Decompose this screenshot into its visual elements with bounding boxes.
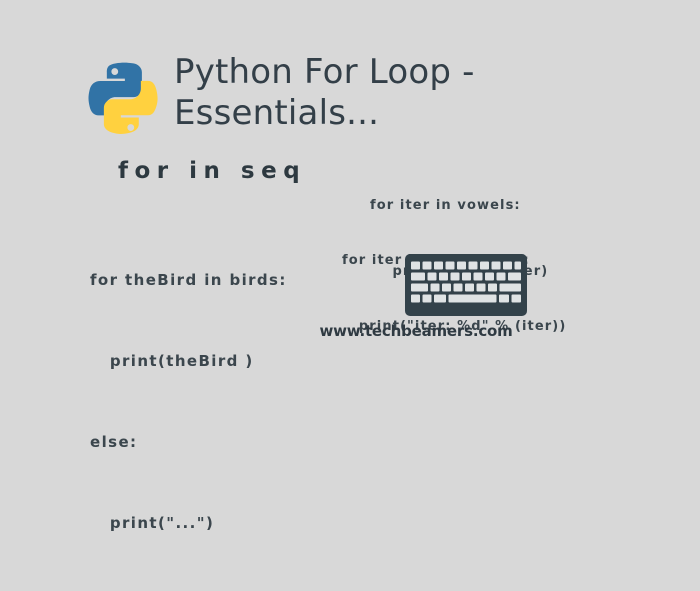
code-line: print("..."): [90, 510, 287, 537]
code-block-left: for theBird in birds: print(theBird ) el…: [90, 213, 287, 591]
page-title: Python For Loop - Essentials...: [174, 52, 594, 134]
website-url-text: www.techbeamers.com: [319, 322, 512, 340]
keyboard-icon: [405, 254, 527, 316]
code-line: else:: [90, 429, 287, 456]
python-logo: [88, 62, 162, 138]
website-url: www.techbeamers.com: [0, 322, 700, 340]
subtitle-for-in-seq: for in seq: [118, 158, 306, 184]
python-logo-svg: [88, 62, 162, 138]
keyboard-icon-svg: [405, 254, 527, 316]
code-line: for theBird in birds:: [90, 267, 287, 294]
page-title-line-1: Python For Loop -: [174, 52, 594, 93]
code-line: print(theBird ): [90, 348, 287, 375]
slide-canvas: Python For Loop - Essentials... for in s…: [0, 0, 700, 400]
page-title-line-2: Essentials...: [174, 93, 594, 134]
